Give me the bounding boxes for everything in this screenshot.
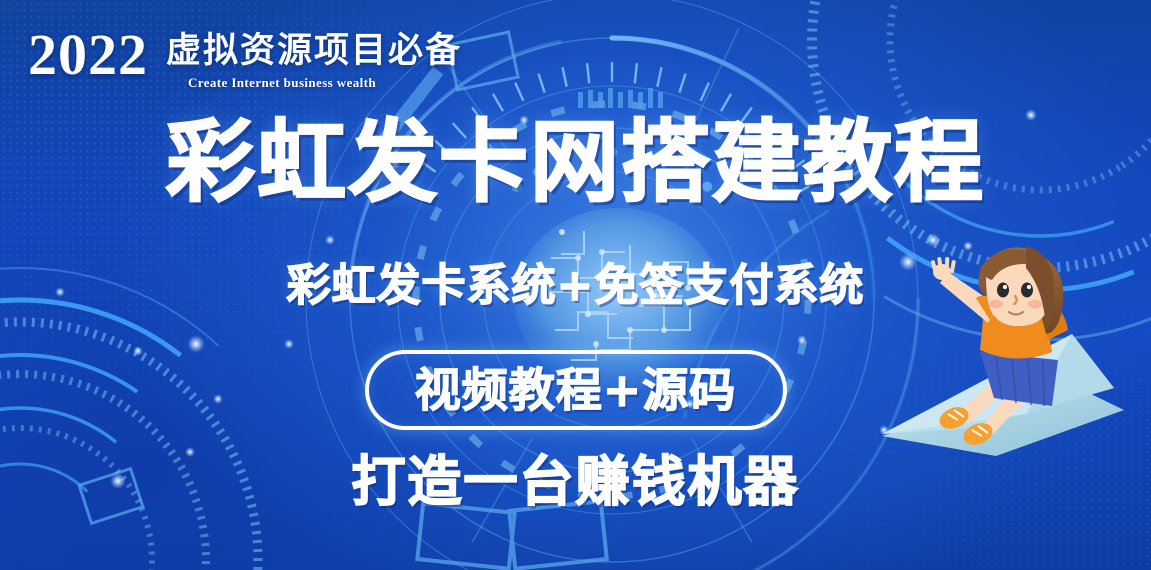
main-title: 彩虹发卡网搭建教程	[0, 118, 1151, 207]
pill-badge-wrap: 视频教程+源码	[0, 350, 1151, 430]
subtitle: 彩虹发卡系统+免签支付系统	[0, 264, 1151, 308]
year-label: 2022	[28, 26, 148, 84]
pill-badge-label: 视频教程+源码	[415, 367, 737, 413]
kicker-english-tagline: Create Internet business wealth	[188, 75, 462, 91]
kicker-block: 2022 虚拟资源项目必备 Create Internet business w…	[28, 26, 462, 91]
banner-content: 2022 虚拟资源项目必备 Create Internet business w…	[0, 0, 1151, 570]
promo-banner: 2022 虚拟资源项目必备 Create Internet business w…	[0, 0, 1151, 570]
kicker-chinese-label: 虚拟资源项目必备	[166, 33, 462, 68]
bottom-tagline: 打造一台赚钱机器	[0, 455, 1151, 509]
kicker-text-block: 虚拟资源项目必备 Create Internet business wealth	[166, 26, 462, 91]
video-source-badge: 视频教程+源码	[365, 350, 787, 430]
